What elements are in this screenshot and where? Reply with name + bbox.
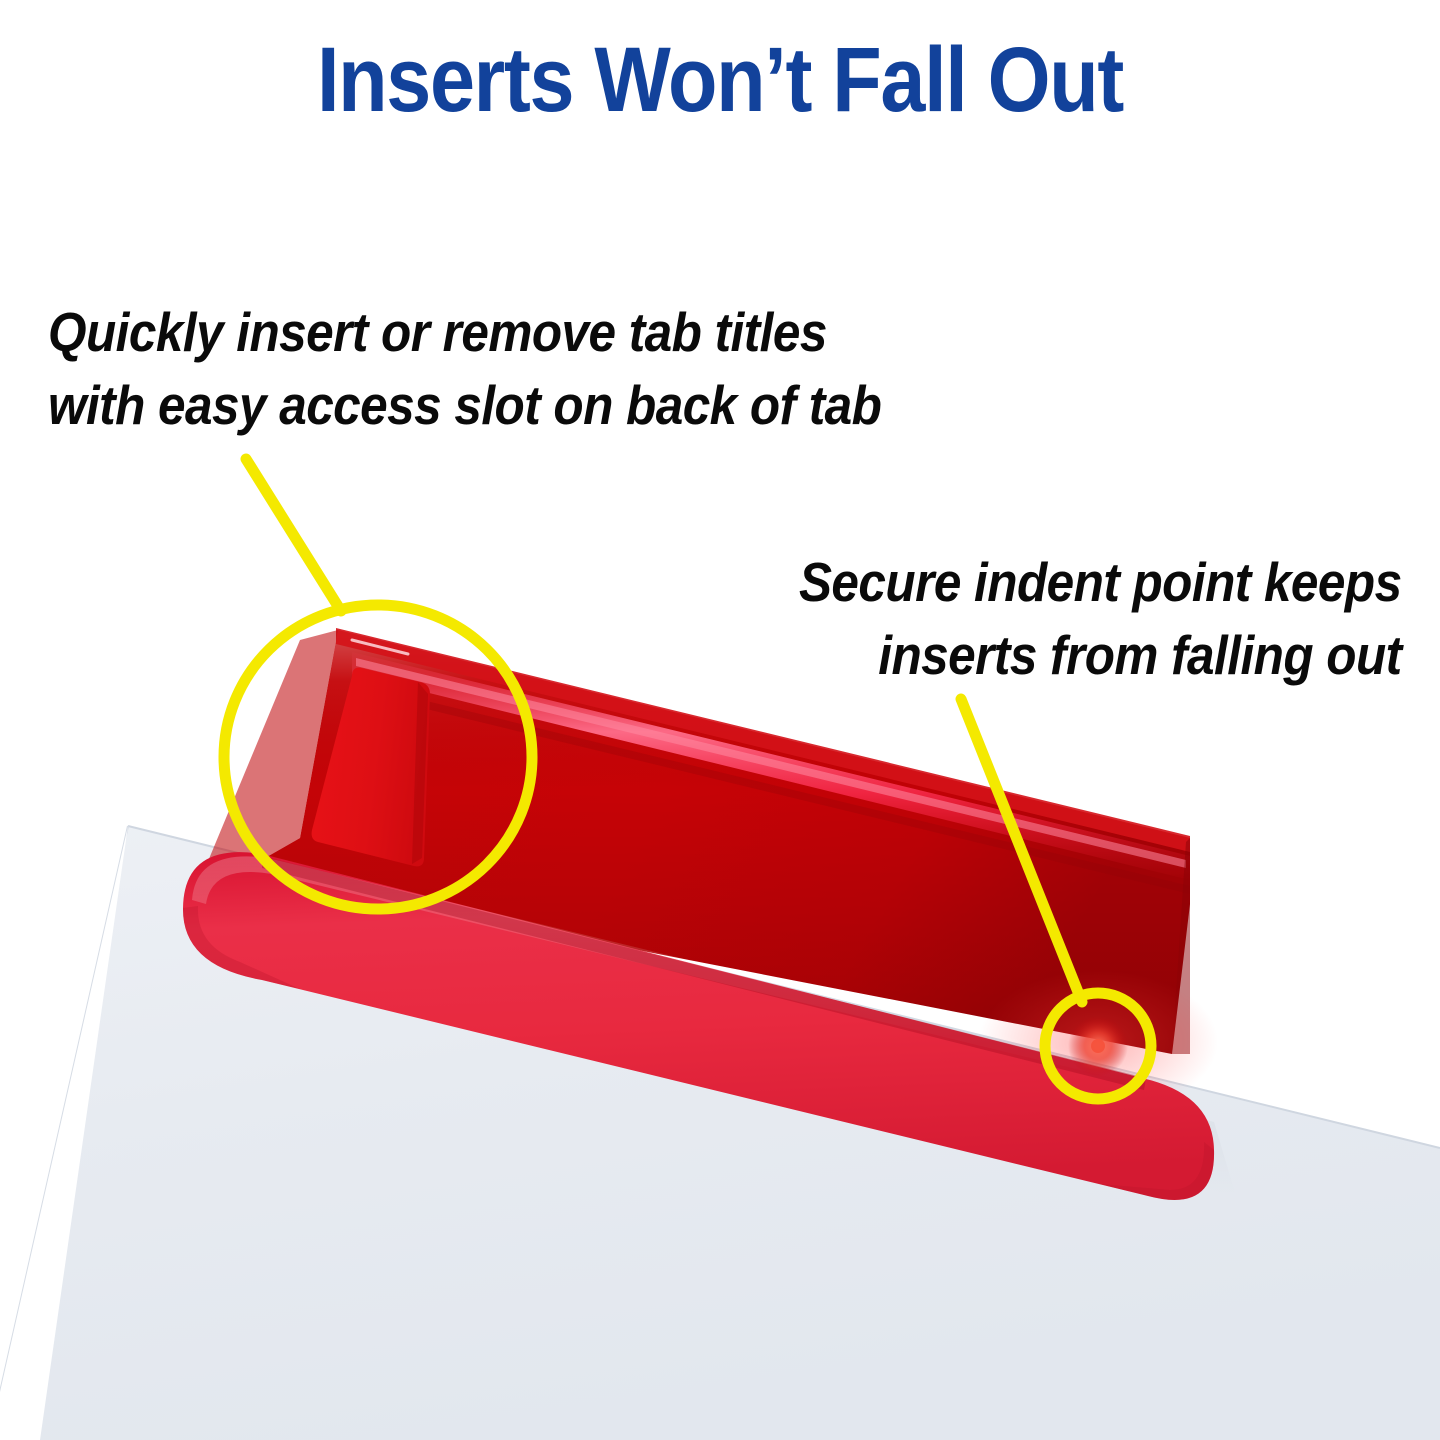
secure-indent-point (1068, 1016, 1128, 1076)
callout-secure-indent-point: Secure indent point keeps inserts from f… (799, 546, 1402, 692)
page-title: Inserts Won’t Fall Out (86, 34, 1353, 126)
callout-left-line-1: Quickly insert or remove tab titles (48, 296, 881, 369)
product-feature-infographic: Inserts Won’t Fall Out Quickly insert or… (0, 0, 1440, 1440)
callout-right-line-2: inserts from falling out (799, 619, 1402, 692)
callout-right-line-1: Secure indent point keeps (799, 546, 1402, 619)
slot-leader-line (246, 459, 341, 611)
callout-left-line-2: with easy access slot on back of tab (48, 369, 881, 442)
product-photo (0, 0, 1440, 1440)
callout-easy-access-slot: Quickly insert or remove tab titles with… (48, 296, 881, 442)
